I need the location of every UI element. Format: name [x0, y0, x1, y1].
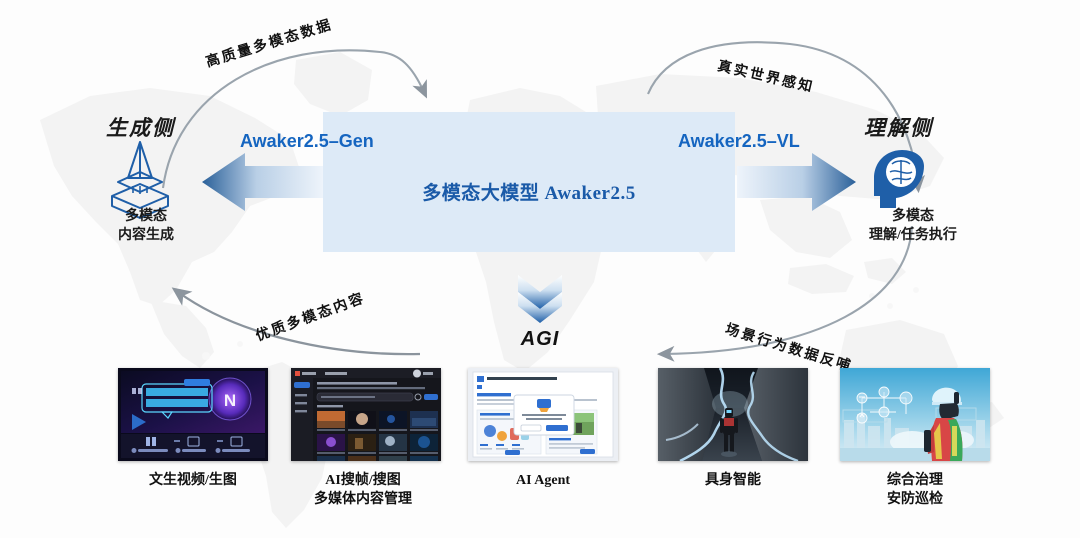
- agi-label: AGI: [500, 328, 580, 351]
- generation-side-subtitle: 多模态 内容生成: [91, 208, 201, 246]
- card-text-to-video[interactable]: N: [118, 368, 268, 461]
- media-search-dashboard-thumbnail: [291, 368, 441, 461]
- model-tag-gen: Awaker2.5–Gen: [240, 131, 374, 152]
- svg-text:N: N: [224, 391, 236, 410]
- head-brain-icon: [874, 150, 924, 208]
- robot-in-tunnel-thumbnail: [658, 368, 808, 461]
- card-embodied-intelligence[interactable]: [658, 368, 808, 461]
- agent-webpage-modal-thumbnail: [468, 368, 618, 461]
- application-cards-row: N: [0, 368, 1080, 538]
- card-security-inspection[interactable]: [840, 368, 990, 461]
- card-caption-ai-frame-image-search: AI搜帧/搜图 多媒体内容管理: [258, 472, 468, 510]
- ai-video-generation-ui-thumbnail: N: [118, 368, 268, 461]
- industrial-inspection-worker-thumbnail: [840, 368, 990, 461]
- generation-side-heading: 生成侧: [106, 112, 175, 142]
- open-box-rocket-icon: [112, 142, 168, 218]
- model-tag-vl: Awaker2.5–VL: [678, 131, 800, 152]
- understanding-side-subtitle: 多模态 理解/任务执行: [848, 208, 978, 246]
- understanding-arrow: [737, 153, 856, 211]
- understanding-side-heading: 理解侧: [864, 112, 933, 142]
- card-caption-embodied-intelligence: 具身智能: [628, 472, 838, 491]
- card-caption-ai-agent: AI Agent: [438, 472, 648, 491]
- card-ai-frame-image-search[interactable]: [291, 368, 441, 461]
- card-ai-agent[interactable]: [468, 368, 618, 461]
- card-caption-security-inspection: 综合治理 安防巡检: [810, 472, 1020, 510]
- generation-arrow: [202, 153, 323, 211]
- center-model-title: 多模态大模型 Awaker2.5: [323, 178, 735, 205]
- double-chevron-down-icon: [518, 275, 562, 323]
- diagram-canvas: 多模态大模型 Awaker2.5 Awaker2.5–Gen Awaker2.5…: [0, 0, 1080, 538]
